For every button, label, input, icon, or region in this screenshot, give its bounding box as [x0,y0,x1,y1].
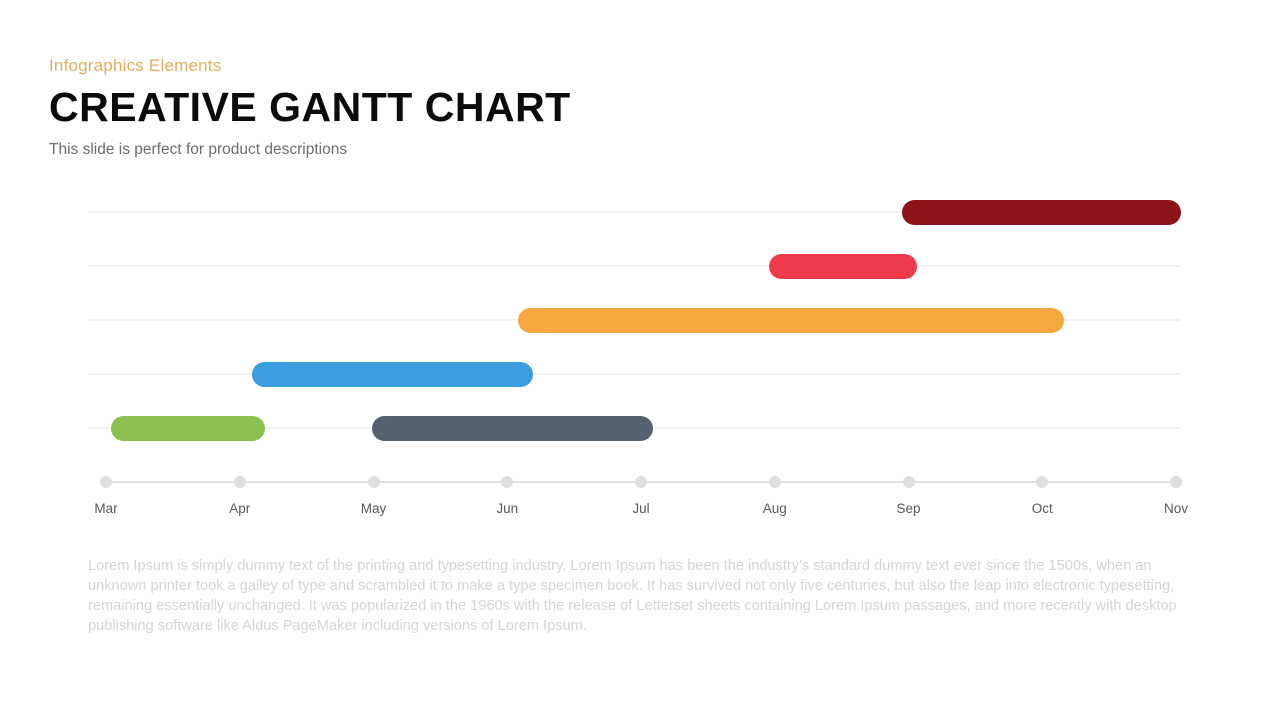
gantt-gridline [89,265,1180,267]
axis-tick-dot [903,476,915,488]
axis-tick-label: May [334,502,414,516]
gantt-bar-dark-red[interactable] [902,200,1182,225]
axis-tick-dot [100,476,112,488]
gantt-bar-orange[interactable] [518,308,1064,333]
axis-tick-dot [1170,476,1182,488]
axis-tick-label: Jul [601,502,681,516]
axis-tick-dot [635,476,647,488]
gantt-plot-area [89,185,1180,455]
axis-tick-label: Nov [1136,502,1216,516]
gantt-row [89,401,1180,455]
description-paragraph: Lorem Ipsum is simply dummy text of the … [88,556,1184,636]
axis-tick-label: Jun [467,502,547,516]
axis-tick-label: Sep [869,502,949,516]
gantt-bar-slate[interactable] [372,416,653,441]
gantt-timeline-axis: MarAprMayJunJulAugSepOctNov [89,470,1180,530]
gantt-row [89,293,1180,347]
axis-tick-dot [769,476,781,488]
axis-tick-label: Oct [1002,502,1082,516]
gantt-bar-blue[interactable] [252,362,533,387]
axis-tick-label: Aug [735,502,815,516]
gantt-row [89,185,1180,239]
axis-tick-dot [501,476,513,488]
gantt-bar-green[interactable] [111,416,265,441]
gantt-row [89,239,1180,293]
slide: Infographics Elements CREATIVE GANTT CHA… [0,0,1280,720]
axis-tick-dot [1036,476,1048,488]
axis-tick-dot [234,476,246,488]
axis-tick-label: Mar [66,502,146,516]
axis-tick-dot [368,476,380,488]
gantt-bar-red[interactable] [769,254,916,279]
gantt-row [89,347,1180,401]
axis-tick-label: Apr [200,502,280,516]
